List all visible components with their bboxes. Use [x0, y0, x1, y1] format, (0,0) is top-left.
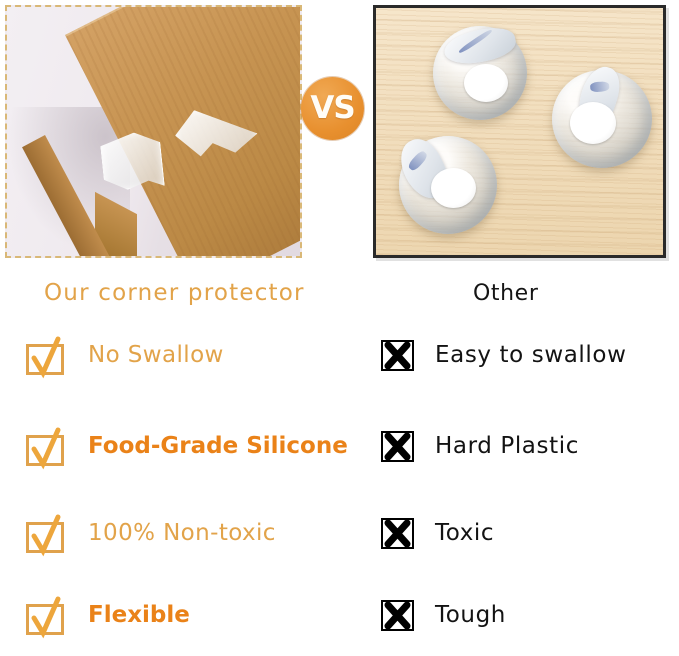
comparison-row: Flexible Tough [0, 598, 679, 656]
column-heading-other: Other [473, 281, 538, 306]
comparison-label-other: Tough [435, 604, 506, 627]
comparison-row: Food-Grade Silicone Hard Plastic [0, 429, 679, 487]
adhesive-pad [431, 168, 476, 208]
check-box-icon [26, 598, 66, 632]
comparison-infographic: VS Our corner protector Other No Swallow… [0, 0, 679, 644]
cross-box-icon [381, 598, 415, 632]
comparison-cell-ours: Food-Grade Silicone [26, 429, 348, 463]
cross-box-icon [381, 429, 415, 463]
comparison-cell-other: Tough [381, 598, 506, 632]
other-hard-ball-corner-guards-photo [373, 5, 666, 258]
adhesive-pad [464, 64, 508, 102]
cross-box-icon [381, 338, 415, 372]
comparison-cell-ours: No Swallow [26, 338, 224, 372]
check-box-icon [26, 338, 66, 372]
comparison-label-other: Easy to swallow [435, 344, 626, 367]
check-box-icon [26, 516, 66, 550]
comparison-label-ours: Food-Grade Silicone [88, 435, 348, 458]
comparison-label-other: Toxic [435, 522, 494, 545]
comparison-cell-other: Toxic [381, 516, 494, 550]
cross-box-icon [381, 516, 415, 550]
vs-badge: VS [301, 77, 364, 140]
adhesive-pad [570, 102, 616, 144]
comparison-label-ours: Flexible [88, 604, 190, 627]
comparison-cell-other: Hard Plastic [381, 429, 579, 463]
column-heading-ours: Our corner protector [44, 280, 305, 306]
comparison-row: No Swallow Easy to swallow [0, 338, 679, 396]
comparison-label-ours: 100% Non-toxic [88, 522, 276, 545]
comparison-cell-ours: 100% Non-toxic [26, 516, 276, 550]
comparison-row: 100% Non-toxic Toxic [0, 516, 679, 574]
check-box-icon [26, 429, 66, 463]
comparison-cell-other: Easy to swallow [381, 338, 626, 372]
comparison-label-other: Hard Plastic [435, 435, 579, 458]
vs-badge-label: VS [310, 93, 354, 124]
comparison-label-ours: No Swallow [88, 344, 224, 367]
comparison-cell-ours: Flexible [26, 598, 190, 632]
corner-protector-on-wooden-table-photo [5, 5, 302, 258]
